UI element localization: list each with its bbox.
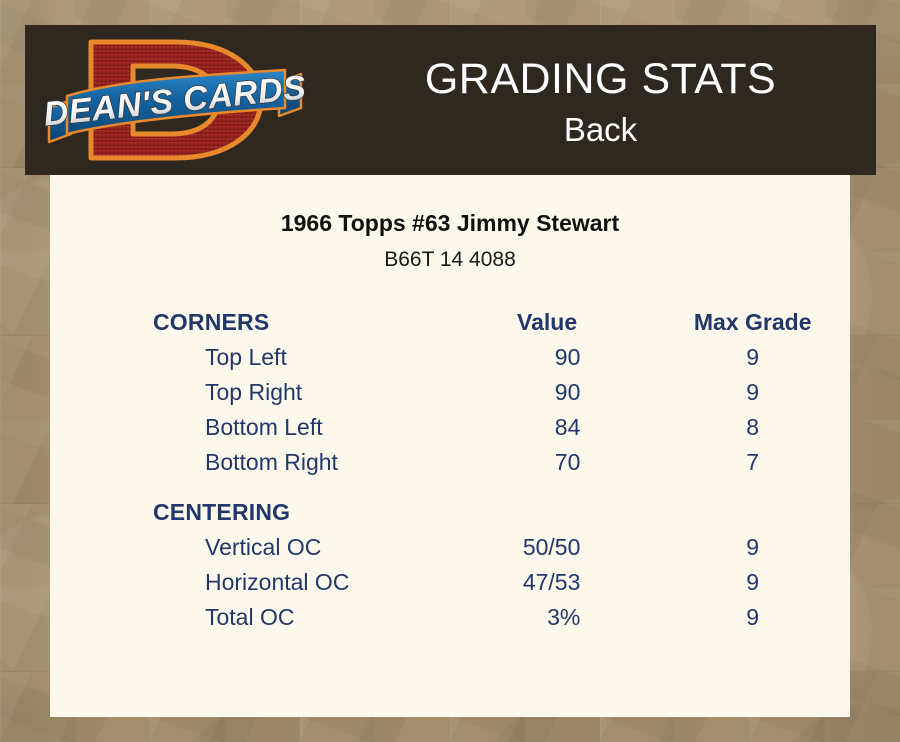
card-serial-number: B66T 14 4088 xyxy=(50,249,850,270)
table-row: Bottom Left 84 8 xyxy=(50,410,850,445)
row-value: 84 xyxy=(461,410,656,445)
section-header-row-centering: CENTERING xyxy=(50,494,850,530)
stats-panel: 1966 Topps #63 Jimmy Stewart B66T 14 408… xyxy=(50,175,850,717)
row-value: 47/53 xyxy=(461,565,656,600)
section-centering-grade-spacer xyxy=(655,494,850,530)
row-value: 3% xyxy=(461,600,656,635)
row-label: Bottom Left xyxy=(50,410,461,445)
row-max-grade: 9 xyxy=(655,530,850,565)
row-max-grade: 8 xyxy=(655,410,850,445)
section-centering-value-spacer xyxy=(461,494,656,530)
stats-table-body: CORNERS Value Max Grade Top Left 90 9 To… xyxy=(50,304,850,635)
section-title-centering: CENTERING xyxy=(50,494,461,530)
table-row: Top Right 90 9 xyxy=(50,375,850,410)
row-label: Total OC xyxy=(50,600,461,635)
grading-stats-page: DEAN'S CARDS GRADING STATS Back 1966 Top… xyxy=(0,0,900,742)
page-title: GRADING STATS xyxy=(425,58,776,101)
row-label: Vertical OC xyxy=(50,530,461,565)
card-title: 1966 Topps #63 Jimmy Stewart xyxy=(50,212,850,235)
grading-stats-table: CORNERS Value Max Grade Top Left 90 9 To… xyxy=(50,304,850,635)
row-value: 70 xyxy=(461,445,656,480)
row-label: Top Right xyxy=(50,375,461,410)
row-value: 90 xyxy=(461,375,656,410)
table-row: Vertical OC 50/50 9 xyxy=(50,530,850,565)
column-header-value: Value xyxy=(461,304,656,340)
row-max-grade: 7 xyxy=(655,445,850,480)
row-max-grade: 9 xyxy=(655,600,850,635)
section-title-corners: CORNERS xyxy=(50,304,461,340)
row-max-grade: 9 xyxy=(655,375,850,410)
row-max-grade: 9 xyxy=(655,340,850,375)
row-label: Bottom Right xyxy=(50,445,461,480)
row-label: Top Left xyxy=(50,340,461,375)
header-bar: DEAN'S CARDS GRADING STATS Back xyxy=(25,25,876,175)
row-value: 90 xyxy=(461,340,656,375)
header-title-block: GRADING STATS Back xyxy=(325,25,876,175)
table-row: Bottom Right 70 7 xyxy=(50,445,850,480)
row-label: Horizontal OC xyxy=(50,565,461,600)
row-max-grade: 9 xyxy=(655,565,850,600)
page-subtitle: Back xyxy=(564,113,637,146)
table-row: Top Left 90 9 xyxy=(50,340,850,375)
section-spacer xyxy=(50,480,850,494)
deans-cards-logo[interactable]: DEAN'S CARDS xyxy=(45,30,305,170)
section-header-row-corners: CORNERS Value Max Grade xyxy=(50,304,850,340)
table-row: Horizontal OC 47/53 9 xyxy=(50,565,850,600)
column-header-max-grade: Max Grade xyxy=(655,304,850,340)
table-row: Total OC 3% 9 xyxy=(50,600,850,635)
row-value: 50/50 xyxy=(461,530,656,565)
